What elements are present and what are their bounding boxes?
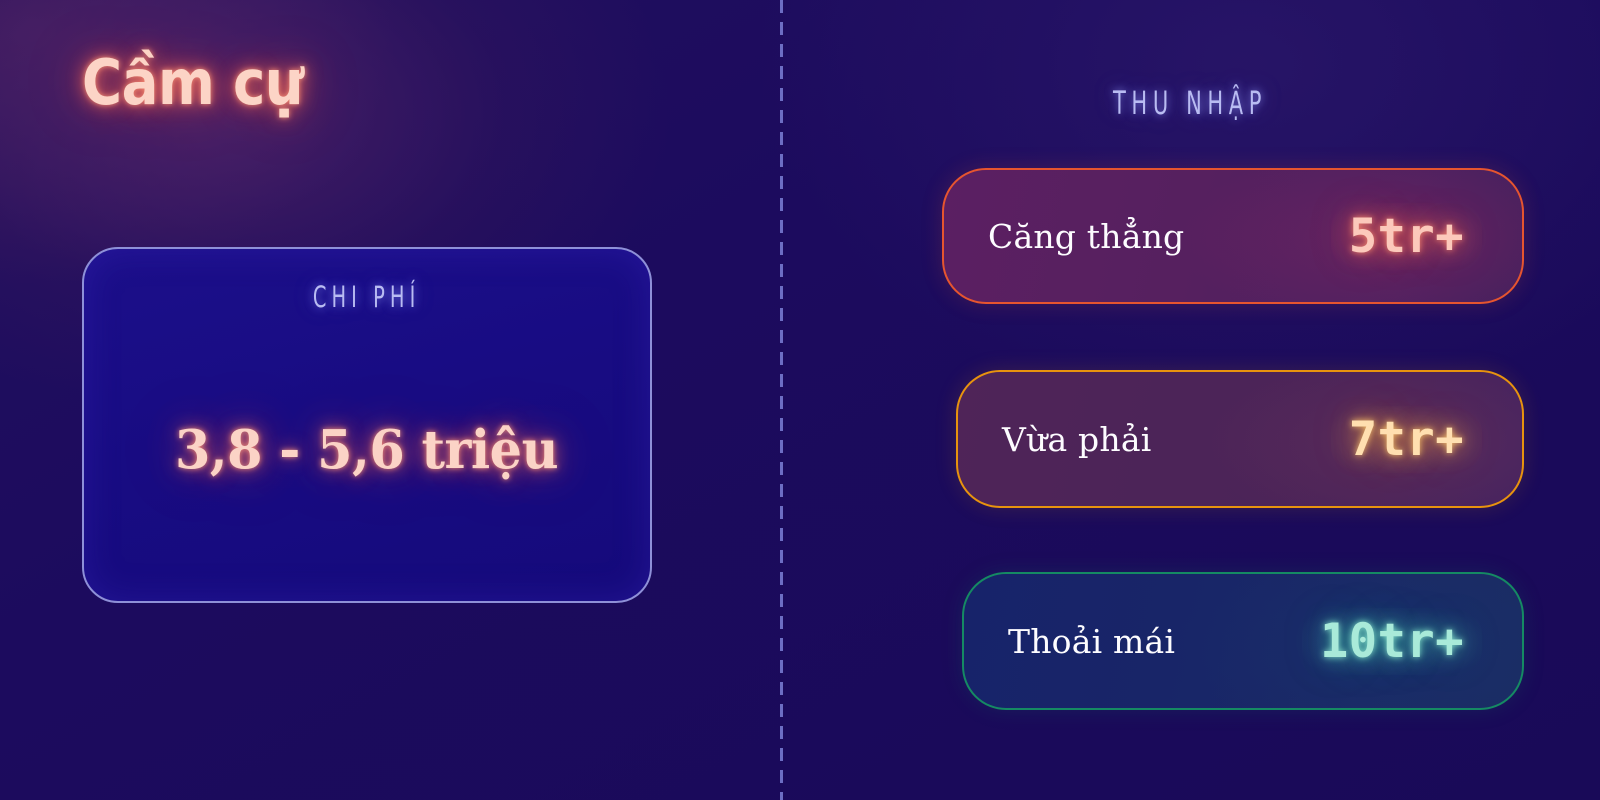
income-tier-amount: 7tr+: [1331, 406, 1482, 473]
income-section-label: THU NHẬP: [780, 86, 1600, 121]
vertical-dashed-divider: [780, 0, 783, 800]
cost-card-label: CHI PHÍ: [313, 281, 420, 314]
left-panel-expenses: Cầm cự CHI PHÍ 3,8 - 5,6 triệu: [0, 0, 780, 800]
cost-value-container: 3,8 - 5,6 triệu: [84, 298, 650, 601]
income-tier-moderate[interactable]: Vừa phải 7tr+: [956, 370, 1524, 508]
income-tier-amount: 10tr+: [1302, 608, 1482, 675]
income-tier-name: Thoải mái: [1008, 622, 1175, 661]
page-title: Cầm cự: [82, 52, 303, 114]
income-section-label-text: THU NHẬP: [1113, 85, 1267, 123]
income-tier-name: Vừa phải: [1002, 420, 1151, 459]
income-tier-name: Căng thẳng: [988, 217, 1184, 256]
income-tier-amount: 5tr+: [1331, 203, 1482, 270]
right-panel-income: THU NHẬP Căng thẳng 5tr+ Vừa phải 7tr+ T…: [780, 0, 1600, 800]
income-tier-stressed[interactable]: Căng thẳng 5tr+: [942, 168, 1524, 304]
income-tier-comfortable[interactable]: Thoải mái 10tr+: [962, 572, 1524, 710]
cost-card: CHI PHÍ 3,8 - 5,6 triệu: [82, 247, 652, 603]
cost-card-value: 3,8 - 5,6 triệu: [175, 419, 558, 481]
